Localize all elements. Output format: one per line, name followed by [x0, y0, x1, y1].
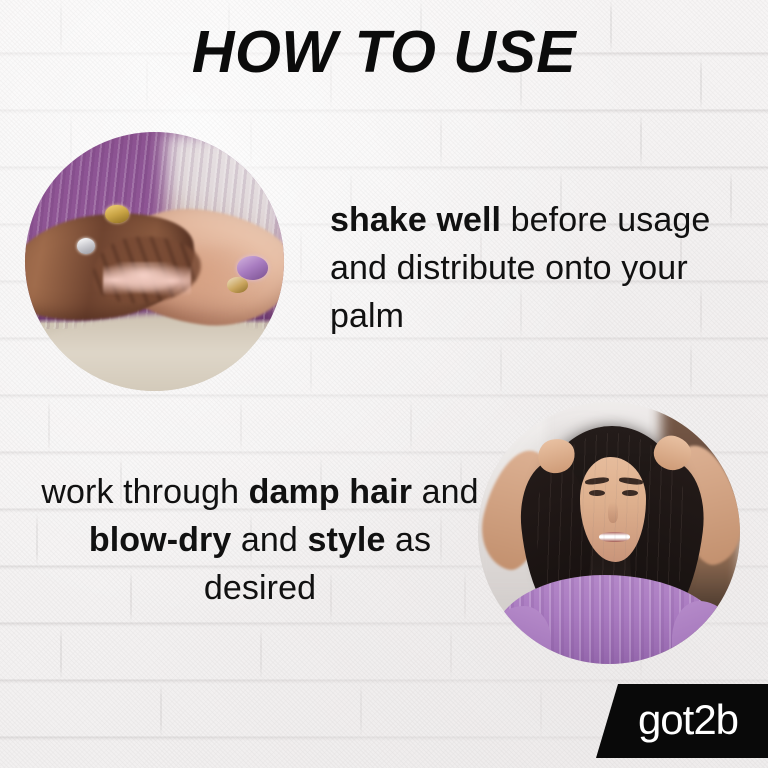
diamond-ring-icon [77, 238, 95, 254]
step-2-photo-model [478, 402, 740, 664]
purple-ring-icon [237, 256, 268, 279]
fingernails [103, 262, 191, 298]
step-1-photo-hands [25, 132, 284, 391]
step-2-instruction: work through damp hair and blow-dry and … [40, 468, 480, 612]
step-2-seg-3: and [412, 473, 479, 511]
step-2-seg-6: style [307, 521, 385, 559]
step-1-instruction: shake well before usage and distribute o… [330, 196, 730, 340]
step-2-seg-4: blow-dry [89, 521, 231, 559]
got2b-logo: got2b [596, 684, 768, 758]
how-to-use-infographic: HOW TO USE shake well before usage and d… [0, 0, 768, 768]
page-title: HOW TO USE [0, 22, 768, 84]
gold-band-ring-icon [227, 277, 248, 293]
gold-ring-icon [105, 205, 128, 223]
step-2-seg-2: damp hair [249, 473, 412, 511]
step-1-bold-phrase: shake well [330, 201, 501, 239]
step-2-seg-1: work through [41, 473, 248, 511]
step-2-seg-5: and [231, 521, 307, 559]
got2b-logo-text: got2b [626, 699, 738, 744]
